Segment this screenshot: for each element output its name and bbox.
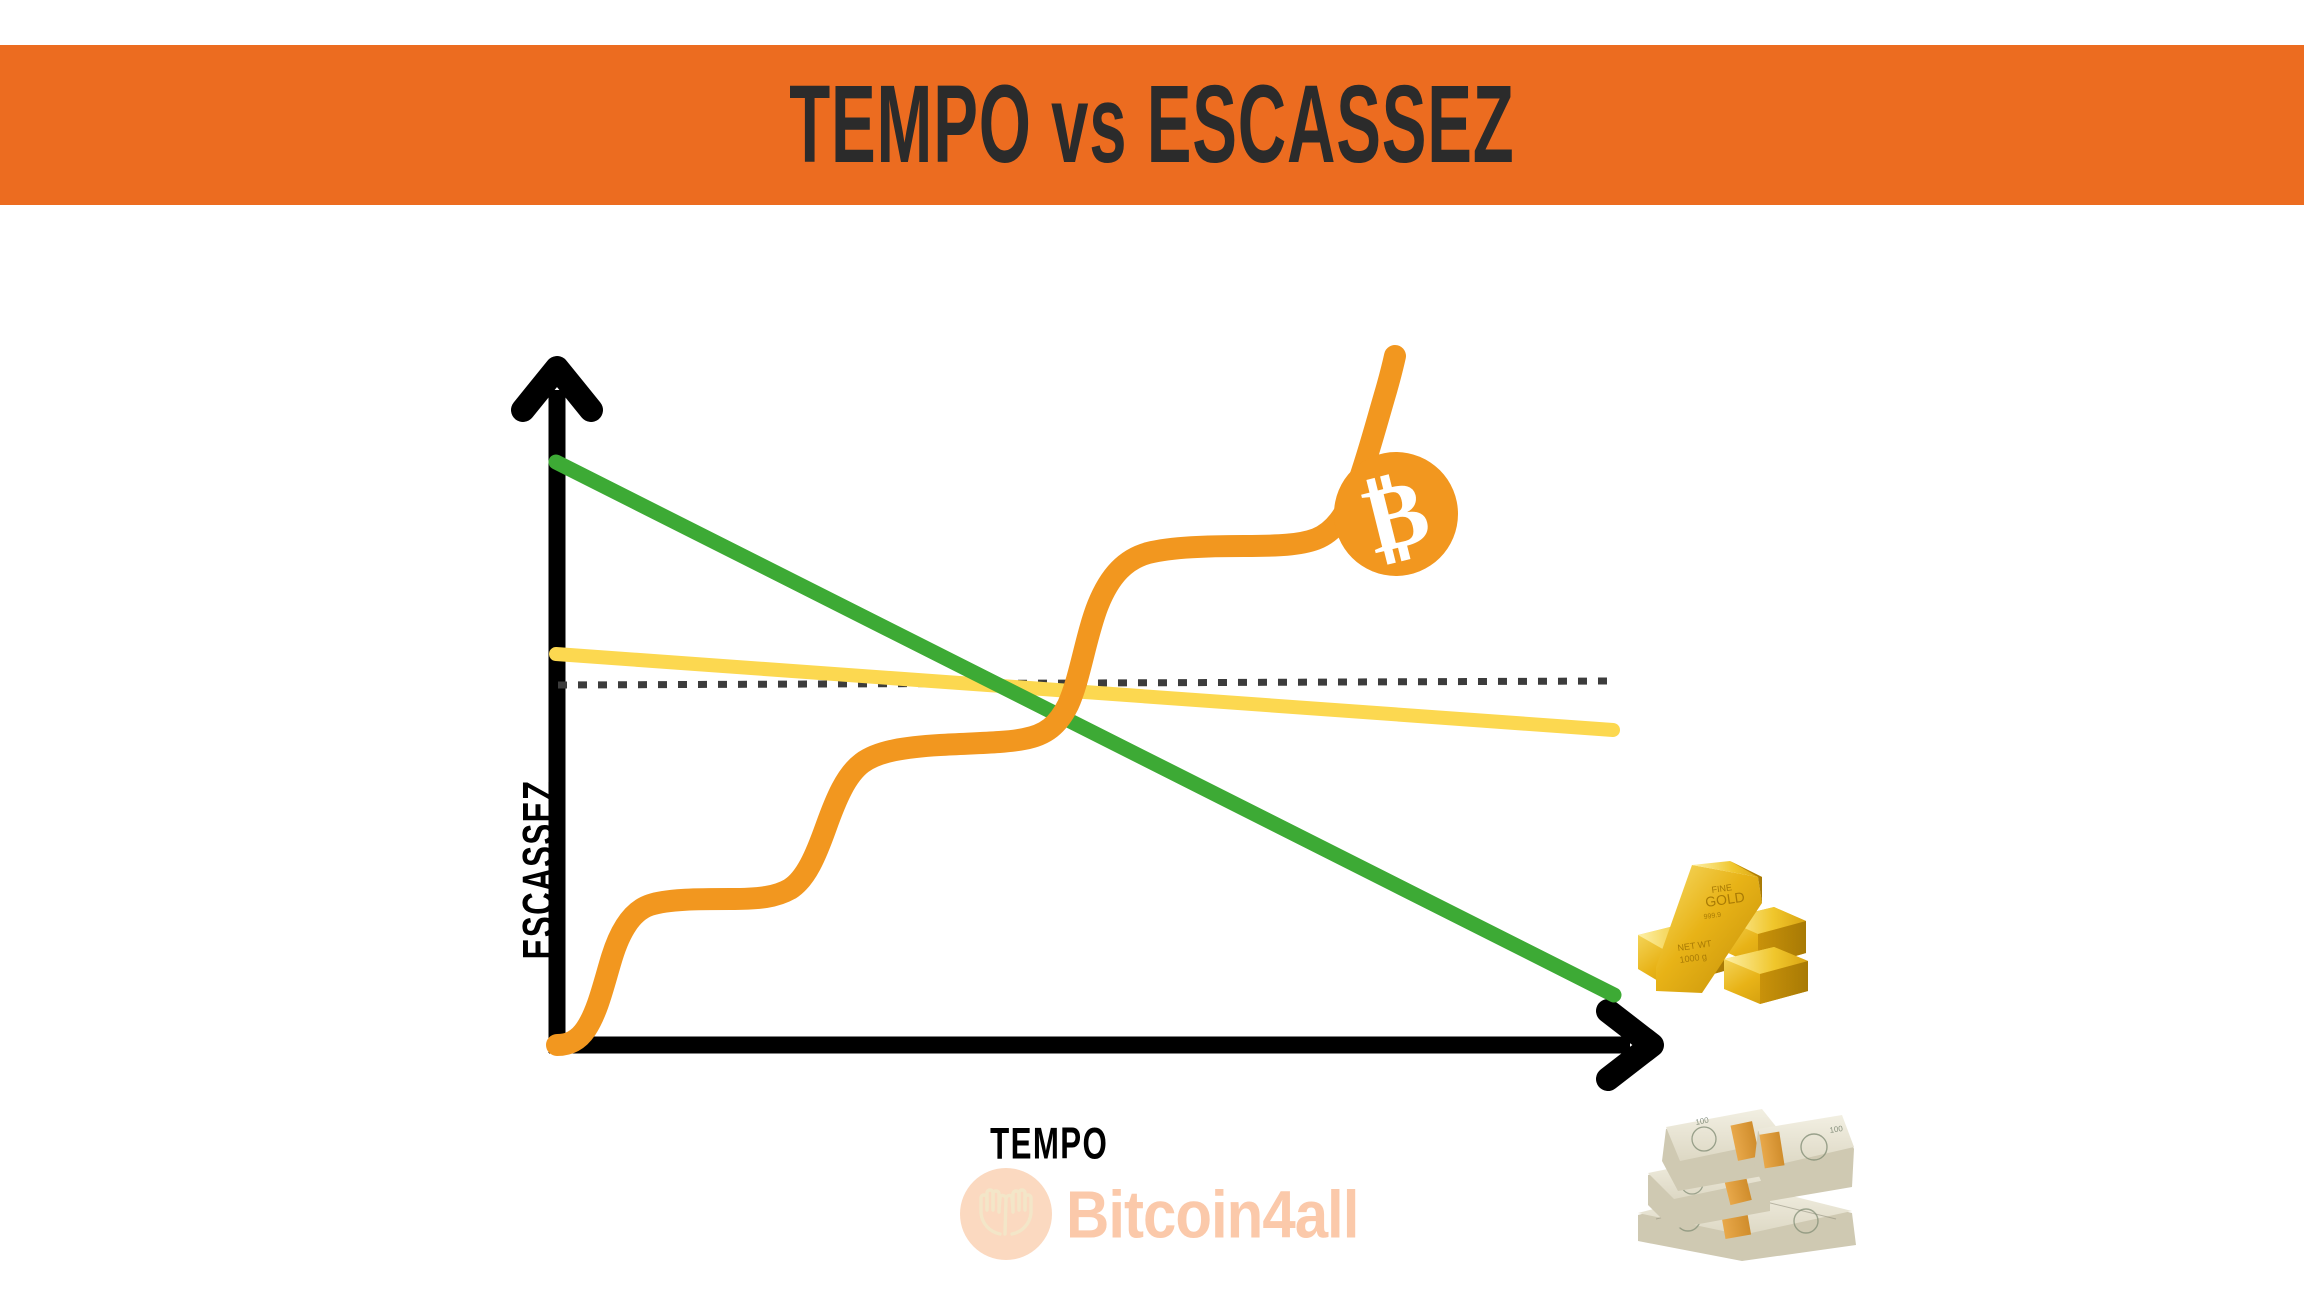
page-title: TEMPO vs ESCASSEZ (789, 70, 1514, 180)
chart-area: ESCASSEZ TEMPO ₿ (0, 205, 2304, 1296)
brand-watermark: Bitcoin4all (960, 1168, 1358, 1260)
y-axis-label: ESCASSEZ (514, 780, 565, 960)
bitcoin-coin-icon: ₿ (1332, 450, 1460, 578)
header-banner: TEMPO vs ESCASSEZ (0, 45, 2304, 205)
two-hands-icon (960, 1168, 1052, 1260)
x-axis (549, 1011, 1652, 1079)
brand-name: Bitcoin4all (1066, 1175, 1358, 1252)
infographic-root: TEMPO vs ESCASSEZ ESCASSEZ (0, 0, 2304, 1296)
x-axis-label: TEMPO (990, 1119, 1108, 1170)
dollar-bills-icon: 100 100 (1630, 1095, 1860, 1265)
gold-bars-icon: FINE GOLD 999.9 NET WT 1000 g (1628, 841, 1818, 1016)
chart-svg (0, 205, 2304, 1296)
